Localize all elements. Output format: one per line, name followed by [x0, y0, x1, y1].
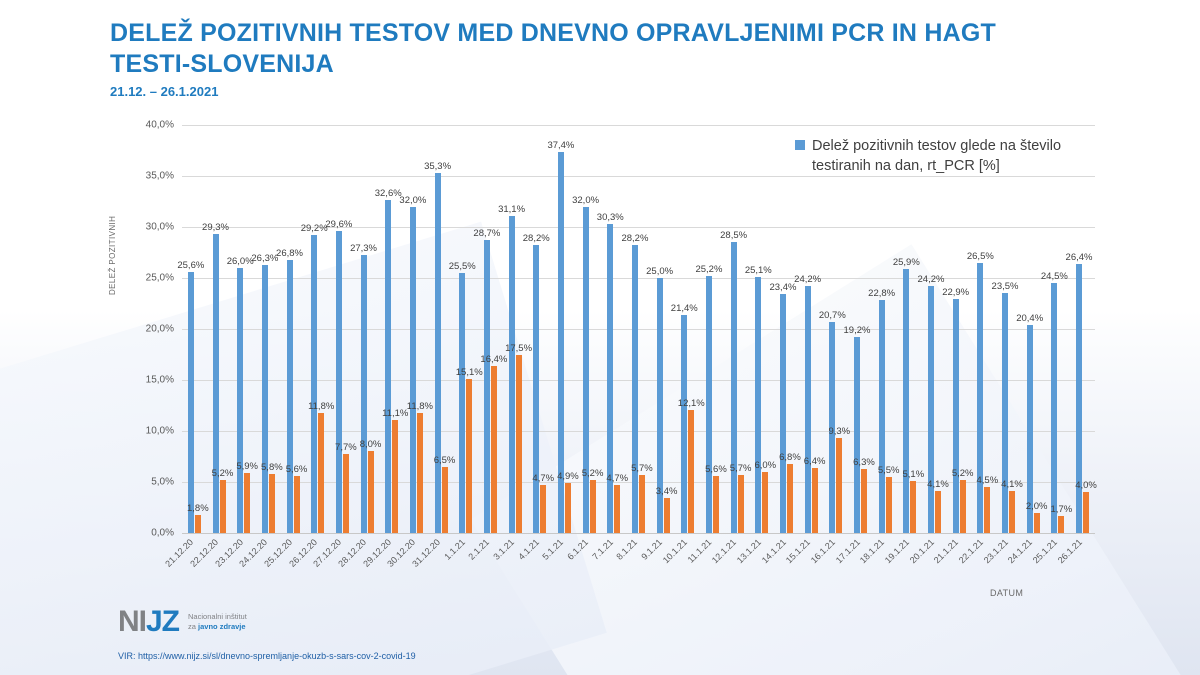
- bar-hagt[interactable]: 4,0%: [1083, 492, 1089, 533]
- x-axis-tick-label: 1.1.21: [442, 537, 467, 562]
- bar-pcr[interactable]: 28,2%: [533, 245, 539, 533]
- bar-pcr[interactable]: 24,2%: [928, 286, 934, 533]
- x-axis-tick-label: 26.1.21: [1055, 537, 1083, 565]
- bar-hagt[interactable]: 4,9%: [565, 483, 571, 533]
- bar-value-label: 26,8%: [276, 248, 303, 259]
- bar-value-label: 22,9%: [942, 287, 969, 298]
- bar-value-label: 25,0%: [646, 266, 673, 277]
- bar-value-label: 22,8%: [868, 288, 895, 299]
- bar-hagt[interactable]: 17,5%: [516, 355, 522, 534]
- bar-pcr[interactable]: 23,4%: [780, 294, 786, 533]
- footer: NIJZ Nacionalni inštitut za javno zdravj…: [118, 607, 416, 661]
- bar-group: 23,5%4,1%: [996, 125, 1021, 533]
- bar-pcr[interactable]: 26,0%: [237, 268, 243, 533]
- y-axis-tick-label: 25,0%: [146, 273, 174, 284]
- bar-value-label: 30,3%: [597, 212, 624, 223]
- bar-value-label: 5,2%: [582, 468, 604, 479]
- bar-group: 24,2%4,1%: [922, 125, 947, 533]
- bar-hagt[interactable]: 9,3%: [836, 438, 842, 533]
- bar-value-label: 5,2%: [952, 468, 974, 479]
- legend-label: Delež pozitivnih testov glede na število…: [812, 136, 1070, 176]
- x-axis-tick-label: 2.1.21: [467, 537, 492, 562]
- bar-value-label: 7,7%: [335, 442, 357, 453]
- bar-group: 32,0%5,2%: [577, 125, 602, 533]
- bar-value-label: 28,7%: [473, 228, 500, 239]
- bar-group: 32,0%11,8%: [404, 125, 429, 533]
- bar-value-label: 24,5%: [1041, 271, 1068, 282]
- bar-hagt[interactable]: 11,1%: [392, 420, 398, 533]
- bar-value-label: 20,4%: [1016, 313, 1043, 324]
- bar-hagt[interactable]: 11,8%: [318, 413, 324, 533]
- bar-value-label: 5,7%: [631, 463, 653, 474]
- bar-group: 21,4%12,1%: [675, 125, 700, 533]
- bar-hagt[interactable]: 5,6%: [294, 476, 300, 533]
- bar-group: 26,8%5,6%: [281, 125, 306, 533]
- bar-hagt[interactable]: 6,3%: [861, 469, 867, 533]
- bar-hagt[interactable]: 6,0%: [762, 472, 768, 533]
- x-axis-tick-label: 12.1.21: [710, 537, 738, 565]
- chart: DELEŽ POZITIVNIH 0,0%5,0%10,0%15,0%20,0%…: [110, 125, 1095, 550]
- x-axis-tick-label: 13.1.21: [735, 537, 763, 565]
- bar-hagt[interactable]: 5,2%: [220, 480, 226, 533]
- bar-pcr[interactable]: 24,2%: [805, 286, 811, 533]
- bar-hagt[interactable]: 1,7%: [1058, 516, 1064, 533]
- bar-group: 22,9%5,2%: [947, 125, 972, 533]
- bar-value-label: 28,2%: [523, 233, 550, 244]
- bar-hagt[interactable]: 5,7%: [738, 475, 744, 533]
- bar-group: 28,5%5,7%: [725, 125, 750, 533]
- bar-pcr[interactable]: 28,5%: [731, 242, 737, 533]
- bar-hagt[interactable]: 11,8%: [417, 413, 423, 533]
- bar-group: 29,3%5,2%: [207, 125, 232, 533]
- x-axis-ticks: 21.12.2022.12.2023.12.2024.12.2025.12.20…: [182, 535, 1095, 605]
- bar-pcr[interactable]: 23,5%: [1002, 293, 1008, 533]
- y-axis-tick-label: 35,0%: [146, 171, 174, 182]
- x-axis-tick-label: 22.1.21: [957, 537, 985, 565]
- x-axis-tick-label: 17.1.21: [833, 537, 861, 565]
- legend-swatch-icon: [795, 140, 805, 150]
- bar-value-label: 20,7%: [819, 310, 846, 321]
- bar-group: 25,5%15,1%: [453, 125, 478, 533]
- bar-pcr[interactable]: 29,6%: [336, 231, 342, 533]
- bar-value-label: 24,2%: [918, 274, 945, 285]
- bar-value-label: 1,8%: [187, 503, 209, 514]
- logo-wordmark: NIJZ: [118, 607, 179, 637]
- bar-hagt[interactable]: 6,5%: [442, 467, 448, 533]
- bar-hagt[interactable]: 5,8%: [269, 474, 275, 533]
- slide-canvas: DELEŽ POZITIVNIH TESTOV MED DNEVNO OPRAV…: [0, 0, 1200, 675]
- bar-pcr[interactable]: 25,2%: [706, 276, 712, 533]
- y-axis-tick-label: 20,0%: [146, 324, 174, 335]
- bar-group: 26,3%5,8%: [256, 125, 281, 533]
- logo-ni-text: NI: [118, 605, 146, 638]
- bar-hagt[interactable]: 4,7%: [614, 485, 620, 533]
- page-subtitle: 21.12. – 26.1.2021: [110, 84, 1030, 99]
- x-axis-tick-label: 23.1.21: [981, 537, 1009, 565]
- bar-group: 35,3%6,5%: [429, 125, 454, 533]
- bar-hagt[interactable]: 5,6%: [713, 476, 719, 533]
- page-title: DELEŽ POZITIVNIH TESTOV MED DNEVNO OPRAV…: [110, 18, 1030, 79]
- bar-value-label: 23,5%: [992, 281, 1019, 292]
- title-block: DELEŽ POZITIVNIH TESTOV MED DNEVNO OPRAV…: [110, 18, 1030, 99]
- bar-value-label: 31,1%: [498, 204, 525, 215]
- bar-value-label: 5,6%: [286, 464, 308, 475]
- plot-area: 25,6%1,8%29,3%5,2%26,0%5,9%26,3%5,8%26,8…: [182, 125, 1095, 533]
- bar-value-label: 25,9%: [893, 257, 920, 268]
- bar-group: 27,3%8,0%: [355, 125, 380, 533]
- bar-value-label: 6,4%: [804, 456, 826, 467]
- bar-pcr[interactable]: 31,1%: [509, 216, 515, 533]
- bar-group: 24,2%6,4%: [799, 125, 824, 533]
- bar-value-label: 21,4%: [671, 303, 698, 314]
- bar-pcr[interactable]: 22,9%: [953, 299, 959, 533]
- bar-value-label: 3,4%: [656, 486, 678, 497]
- bar-group: 25,6%1,8%: [182, 125, 207, 533]
- bar-group: 31,1%17,5%: [503, 125, 528, 533]
- bar-pcr[interactable]: 28,7%: [484, 240, 490, 533]
- bar-pcr[interactable]: 22,8%: [879, 300, 885, 533]
- bar-group: 28,2%4,7%: [527, 125, 552, 533]
- logo-subtitle: Nacionalni inštitut za javno zdravje: [188, 612, 247, 632]
- bar-group: 25,1%6,0%: [749, 125, 774, 533]
- bar-pcr[interactable]: 19,2%: [854, 337, 860, 533]
- bar-hagt[interactable]: 6,8%: [787, 464, 793, 533]
- bar-value-label: 4,1%: [927, 479, 949, 490]
- bar-value-label: 29,6%: [325, 219, 352, 230]
- bar-hagt[interactable]: 4,7%: [540, 485, 546, 533]
- bar-pcr[interactable]: 26,4%: [1076, 264, 1082, 533]
- bar-hagt[interactable]: 6,4%: [812, 468, 818, 533]
- bar-value-label: 4,7%: [606, 473, 628, 484]
- bar-group: 20,4%2,0%: [1021, 125, 1046, 533]
- bar-hagt[interactable]: 5,1%: [910, 481, 916, 533]
- bar-hagt[interactable]: 12,1%: [688, 410, 694, 533]
- bar-pcr[interactable]: 25,6%: [188, 272, 194, 533]
- bar-hagt[interactable]: 5,2%: [960, 480, 966, 533]
- bar-pcr[interactable]: 29,3%: [213, 234, 219, 533]
- bar-group: 23,4%6,8%: [774, 125, 799, 533]
- bar-value-label: 35,3%: [424, 161, 451, 172]
- bar-pcr[interactable]: 25,1%: [755, 277, 761, 533]
- bar-value-label: 5,6%: [705, 464, 727, 475]
- bar-value-label: 5,2%: [212, 468, 234, 479]
- bar-value-label: 9,3%: [828, 426, 850, 437]
- bar-value-label: 29,2%: [301, 223, 328, 234]
- x-axis-tick-label: 10.1.21: [661, 537, 689, 565]
- bar-value-label: 5,9%: [236, 461, 258, 472]
- bar-pcr[interactable]: 27,3%: [361, 255, 367, 533]
- bar-group: 37,4%4,9%: [552, 125, 577, 533]
- bar-group: 26,5%4,5%: [972, 125, 997, 533]
- bar-value-label: 4,9%: [557, 471, 579, 482]
- bar-value-label: 6,8%: [779, 452, 801, 463]
- bar-value-label: 25,6%: [177, 260, 204, 271]
- bar-group: 25,2%5,6%: [700, 125, 725, 533]
- x-axis-tick-label: 3.1.21: [491, 537, 516, 562]
- x-axis-tick-label: 15.1.21: [784, 537, 812, 565]
- bar-value-label: 5,5%: [878, 465, 900, 476]
- x-axis-tick-label: 7.1.21: [590, 537, 615, 562]
- bar-hagt[interactable]: 8,0%: [368, 451, 374, 533]
- bar-group: 30,3%4,7%: [601, 125, 626, 533]
- bar-pcr[interactable]: 24,5%: [1051, 283, 1057, 533]
- bar-hagt[interactable]: 4,1%: [1009, 491, 1015, 533]
- logo-subtitle-line1: Nacionalni inštitut: [188, 612, 247, 622]
- bar-value-label: 25,2%: [695, 264, 722, 275]
- bar-value-label: 6,0%: [754, 460, 776, 471]
- nijz-logo: NIJZ Nacionalni inštitut za javno zdravj…: [118, 607, 416, 637]
- bar-hagt[interactable]: 5,2%: [590, 480, 596, 533]
- bar-hagt[interactable]: 15,1%: [466, 379, 472, 533]
- bar-value-label: 28,5%: [720, 230, 747, 241]
- y-axis-tick-label: 30,0%: [146, 222, 174, 233]
- bar-value-label: 25,1%: [745, 265, 772, 276]
- x-axis-tick-label: 11.1.21: [686, 537, 714, 565]
- bar-value-label: 26,5%: [967, 251, 994, 262]
- y-axis-tick-label: 0,0%: [151, 528, 174, 539]
- bar-pcr[interactable]: 32,0%: [410, 207, 416, 533]
- bar-group: 26,0%5,9%: [231, 125, 256, 533]
- bar-value-label: 4,1%: [1001, 479, 1023, 490]
- bar-value-label: 23,4%: [769, 282, 796, 293]
- bar-value-label: 32,6%: [375, 188, 402, 199]
- bar-hagt[interactable]: 5,7%: [639, 475, 645, 533]
- bar-hagt[interactable]: 3,4%: [664, 498, 670, 533]
- y-axis-tick-label: 40,0%: [146, 120, 174, 131]
- x-axis-tick-label: 24.1.21: [1006, 537, 1034, 565]
- x-axis-tick-label: 16.1.21: [809, 537, 837, 565]
- bar-pcr[interactable]: 32,0%: [583, 207, 589, 533]
- x-axis-tick-label: 25.1.21: [1031, 537, 1059, 565]
- bar-value-label: 4,7%: [532, 473, 554, 484]
- bar-value-label: 32,0%: [572, 195, 599, 206]
- bar-group: 28,2%5,7%: [626, 125, 651, 533]
- bar-pcr[interactable]: 25,5%: [459, 273, 465, 533]
- y-axis-ticks: 0,0%5,0%10,0%15,0%20,0%25,0%30,0%35,0%40…: [130, 125, 178, 533]
- x-axis-tick-label: 5.1.21: [541, 537, 566, 562]
- bar-group: 29,6%7,7%: [330, 125, 355, 533]
- bar-value-label: 5,1%: [902, 469, 924, 480]
- bar-value-label: 26,3%: [251, 253, 278, 264]
- x-axis-tick-label: 14.1.21: [759, 537, 787, 565]
- y-axis-tick-label: 10,0%: [146, 426, 174, 437]
- bar-group: 28,7%16,4%: [478, 125, 503, 533]
- bar-pcr[interactable]: 26,3%: [262, 265, 268, 533]
- x-axis-tick-label: 18.1.21: [858, 537, 886, 565]
- bar-value-label: 24,2%: [794, 274, 821, 285]
- bar-value-label: 1,7%: [1051, 504, 1073, 515]
- bar-pcr[interactable]: 30,3%: [607, 224, 613, 533]
- bar-hagt[interactable]: 16,4%: [491, 366, 497, 533]
- bar-hagt[interactable]: 1,8%: [195, 515, 201, 533]
- x-axis-tick-label: 21.1.21: [932, 537, 960, 565]
- logo-subtitle-prefix: za: [188, 622, 198, 631]
- x-axis-tick-label: 8.1.21: [615, 537, 640, 562]
- bar-hagt[interactable]: 5,9%: [244, 473, 250, 533]
- bar-pcr[interactable]: 26,8%: [287, 260, 293, 533]
- bar-value-label: 26,0%: [227, 256, 254, 267]
- bar-value-label: 6,5%: [434, 455, 456, 466]
- bar-value-label: 32,0%: [399, 195, 426, 206]
- bar-groups: 25,6%1,8%29,3%5,2%26,0%5,9%26,3%5,8%26,8…: [182, 125, 1095, 533]
- bar-value-label: 6,3%: [853, 457, 875, 468]
- bar-group: 26,4%4,0%: [1070, 125, 1095, 533]
- bar-value-label: 4,5%: [977, 475, 999, 486]
- bar-value-label: 19,2%: [844, 325, 871, 336]
- bar-value-label: 2,0%: [1026, 501, 1048, 512]
- bar-value-label: 29,3%: [202, 222, 229, 233]
- bar-pcr[interactable]: 35,3%: [435, 173, 441, 533]
- bar-group: 25,0%3,4%: [651, 125, 676, 533]
- bar-value-label: 28,2%: [621, 233, 648, 244]
- bar-value-label: 5,8%: [261, 462, 283, 473]
- bar-group: 19,2%6,3%: [848, 125, 873, 533]
- x-axis-tick-label: 19.1.21: [883, 537, 911, 565]
- bar-pcr[interactable]: 32,6%: [385, 200, 391, 533]
- bar-pcr[interactable]: 26,5%: [977, 263, 983, 533]
- x-axis-line: [182, 533, 1095, 534]
- bar-group: 24,5%1,7%: [1046, 125, 1071, 533]
- x-axis-tick-label: 4.1.21: [516, 537, 541, 562]
- bar-value-label: 4,0%: [1075, 480, 1097, 491]
- bar-value-label: 8,0%: [360, 439, 382, 450]
- y-axis-tick-label: 5,0%: [151, 477, 174, 488]
- y-axis-tick-label: 15,0%: [146, 375, 174, 386]
- bar-group: 32,6%11,1%: [379, 125, 404, 533]
- logo-subtitle-line2: za javno zdravje: [188, 622, 247, 632]
- bar-group: 22,8%5,5%: [873, 125, 898, 533]
- x-axis-tick-label: 6.1.21: [565, 537, 590, 562]
- bar-value-label: 5,7%: [730, 463, 752, 474]
- bar-group: 29,2%11,8%: [305, 125, 330, 533]
- bar-group: 25,9%5,1%: [897, 125, 922, 533]
- chart-legend: Delež pozitivnih testov glede na število…: [795, 136, 1070, 176]
- legend-item-pcr: Delež pozitivnih testov glede na število…: [795, 136, 1070, 176]
- logo-jz-text: JZ: [146, 605, 179, 638]
- x-axis-tick-label: 20.1.21: [907, 537, 935, 565]
- bar-hagt[interactable]: 4,1%: [935, 491, 941, 533]
- bar-hagt[interactable]: 4,5%: [984, 487, 990, 533]
- y-axis-title: DELEŽ POZITIVNIH: [108, 216, 117, 295]
- bar-pcr[interactable]: 21,4%: [681, 315, 687, 533]
- bar-hagt[interactable]: 5,5%: [886, 477, 892, 533]
- bar-hagt[interactable]: 2,0%: [1034, 513, 1040, 533]
- x-axis-title: DATUM: [990, 588, 1023, 598]
- bar-value-label: 37,4%: [547, 140, 574, 151]
- logo-subtitle-bold: javno zdravje: [198, 622, 246, 631]
- source-link[interactable]: VIR: https://www.nijz.si/sl/dnevno-sprem…: [118, 651, 416, 661]
- bar-value-label: 26,4%: [1066, 252, 1093, 263]
- bar-pcr[interactable]: 25,9%: [903, 269, 909, 533]
- bar-value-label: 27,3%: [350, 243, 377, 254]
- bar-hagt[interactable]: 7,7%: [343, 454, 349, 533]
- bar-pcr[interactable]: 28,2%: [632, 245, 638, 533]
- bar-value-label: 25,5%: [449, 261, 476, 272]
- bar-pcr[interactable]: 29,2%: [311, 235, 317, 533]
